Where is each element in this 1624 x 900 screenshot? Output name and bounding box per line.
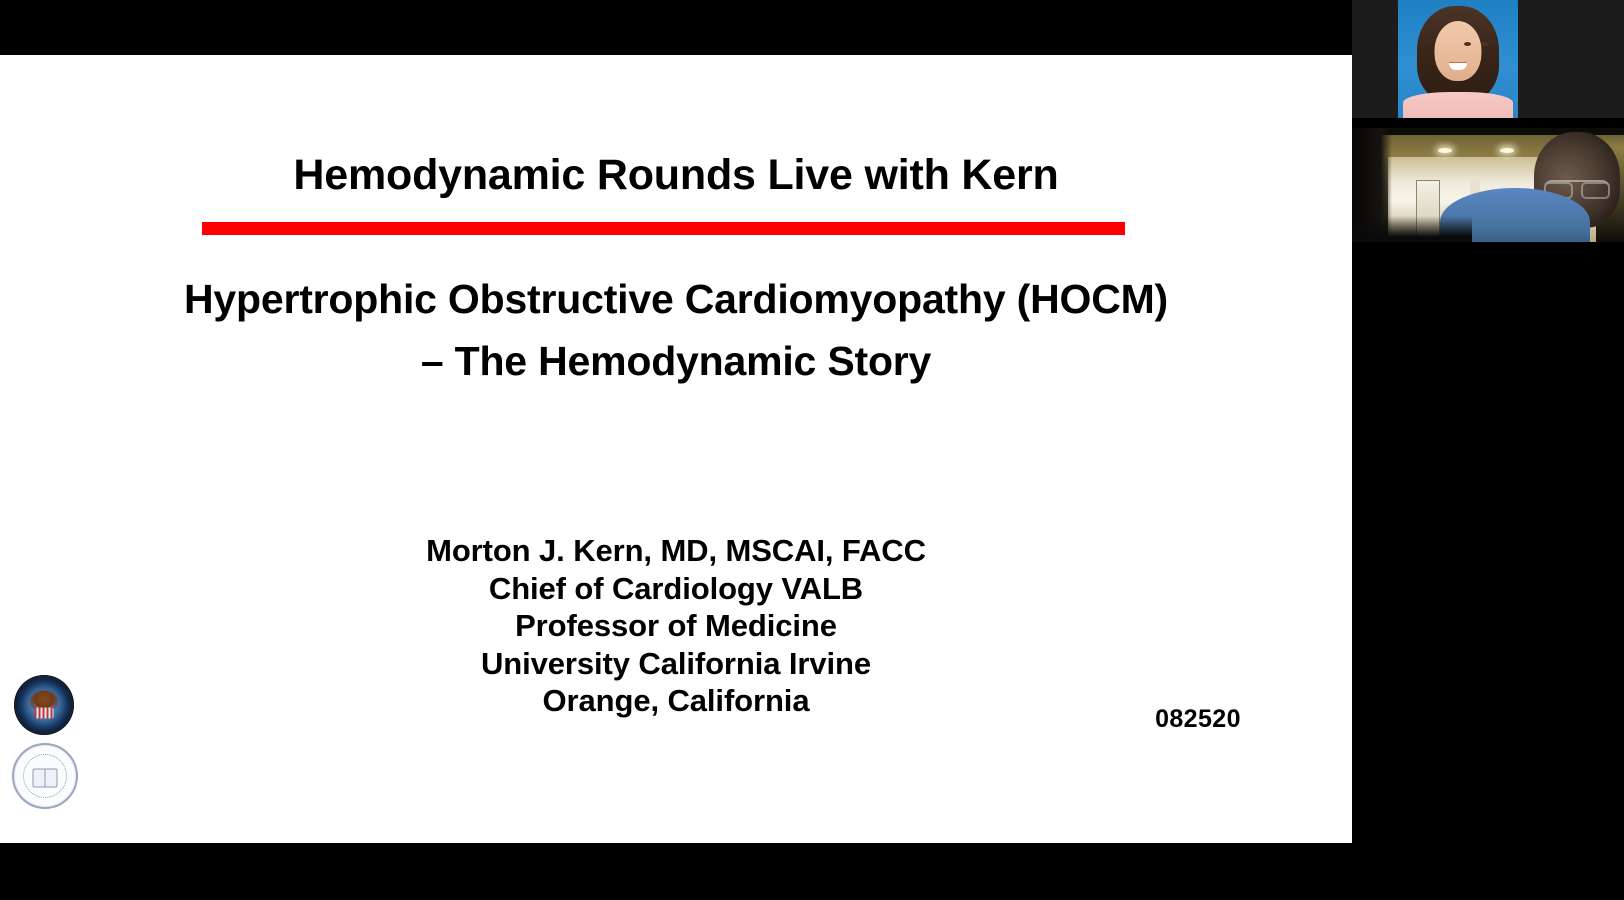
slide-subtitle-line-2: – The Hemodynamic Story [0, 330, 1352, 392]
slide-date-stamp: 082520 [1108, 705, 1288, 734]
video-tile-speaker-1[interactable] [1352, 0, 1624, 118]
video-tile-column [1352, 0, 1624, 900]
video-tile-speaker-2[interactable] [1352, 128, 1624, 242]
author-block: Morton J. Kern, MD, MSCAI, FACC Chief of… [0, 532, 1352, 720]
slide-subtitle-line-1: Hypertrophic Obstructive Cardiomyopathy … [0, 268, 1352, 330]
uc-seal-icon [12, 743, 78, 809]
screen-share-window: Hemodynamic Rounds Live with Kern Hypert… [0, 0, 1624, 900]
speaker-1-portrait [1398, 0, 1518, 118]
slide-title: Hemodynamic Rounds Live with Kern [0, 151, 1352, 200]
speaker-1-eye-left [1464, 42, 1471, 46]
va-seal-icon [14, 675, 74, 735]
author-role-professor: Professor of Medicine [0, 607, 1352, 645]
author-role-chief: Chief of Cardiology VALB [0, 570, 1352, 608]
speaker-2-room-scene [1352, 128, 1624, 242]
author-institution: University California Irvine [0, 645, 1352, 683]
speaker-1-face [1435, 21, 1482, 81]
slide-subtitle: Hypertrophic Obstructive Cardiomyopathy … [0, 268, 1352, 392]
title-underline-rule [202, 222, 1125, 235]
speaker-1-eye-right [1481, 42, 1488, 46]
room-foreground-shadow [1352, 216, 1472, 242]
ceiling-light-right [1500, 148, 1514, 153]
author-name: Morton J. Kern, MD, MSCAI, FACC [0, 532, 1352, 570]
shared-slide[interactable]: Hemodynamic Rounds Live with Kern Hypert… [0, 55, 1352, 843]
ceiling-light-left [1438, 148, 1452, 153]
speaker-1-shirt [1403, 92, 1513, 118]
